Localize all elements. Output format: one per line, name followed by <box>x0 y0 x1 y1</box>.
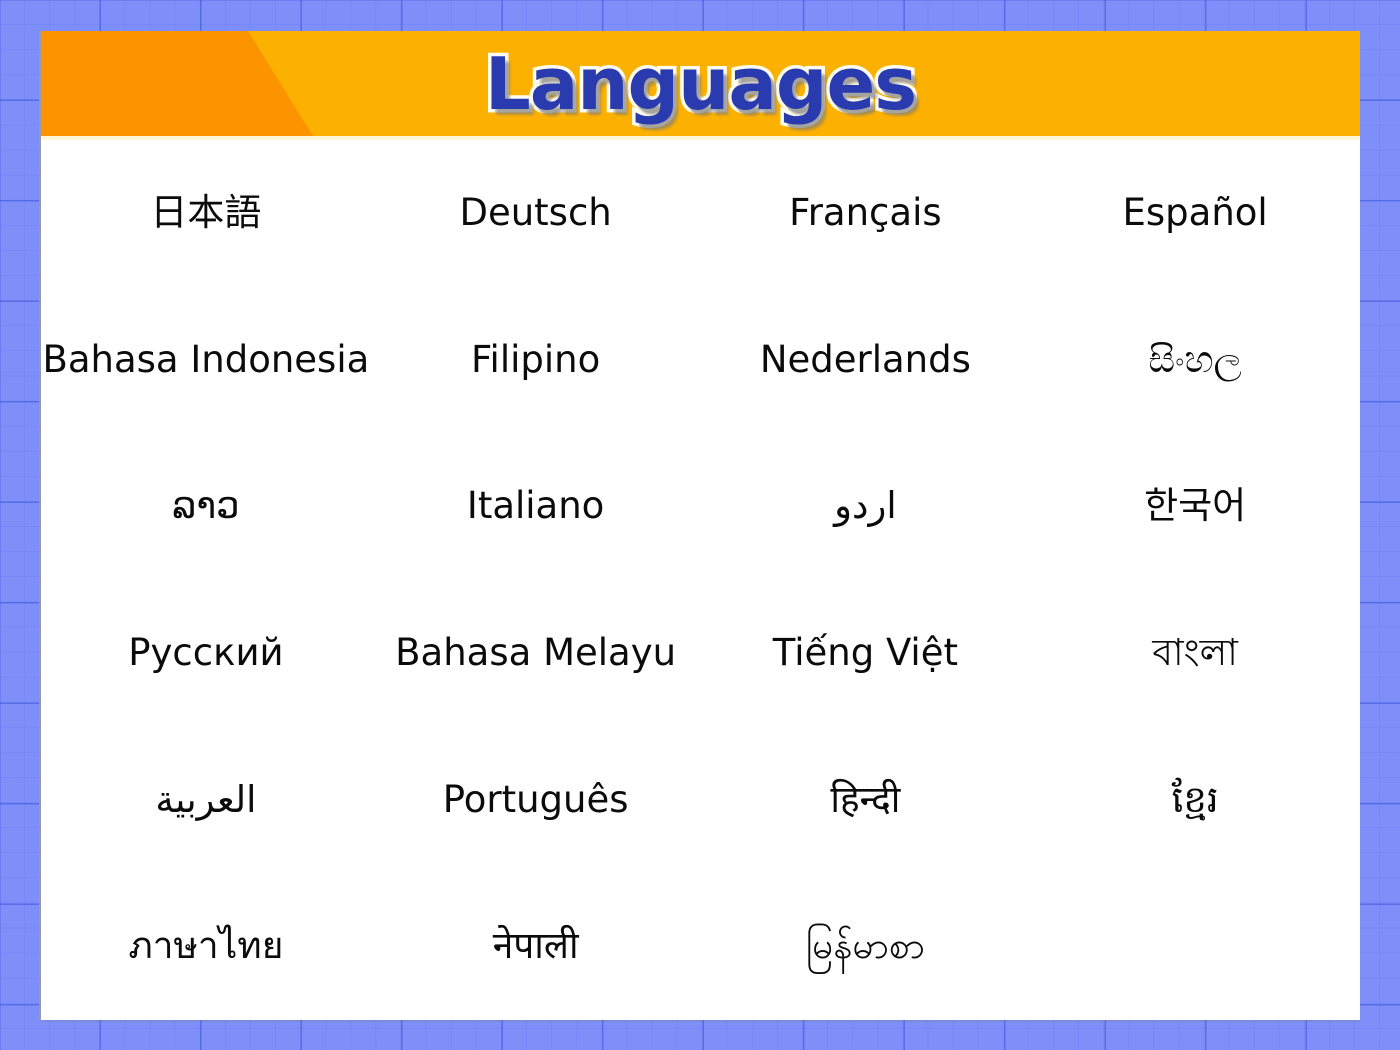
language-item-malay[interactable]: Bahasa Melayu <box>371 580 701 727</box>
language-item-burmese[interactable]: မြန်မာစာ <box>701 873 1031 1020</box>
language-item-japanese[interactable]: 日本語 <box>41 140 371 287</box>
language-item-sinhala[interactable]: සිංහල <box>1030 287 1360 434</box>
language-item-indonesian[interactable]: Bahasa Indonesia <box>41 287 371 434</box>
language-item-urdu[interactable]: اردو <box>701 433 1031 580</box>
language-item-spanish[interactable]: Español <box>1030 140 1360 287</box>
language-item-german[interactable]: Deutsch <box>371 140 701 287</box>
language-item-bengali[interactable]: বাংলা <box>1030 580 1360 727</box>
language-item-french[interactable]: Français <box>701 140 1031 287</box>
language-item-korean[interactable]: 한국어 <box>1030 433 1360 580</box>
language-item-arabic[interactable]: العربية <box>41 727 371 874</box>
language-item-lao[interactable]: ລາວ <box>41 433 371 580</box>
language-item-dutch[interactable]: Nederlands <box>701 287 1031 434</box>
language-item-filipino[interactable]: Filipino <box>371 287 701 434</box>
language-item-nepali[interactable]: नेपाली <box>371 873 701 1020</box>
language-item-hindi[interactable]: हिन्दी <box>701 727 1031 874</box>
language-item-khmer[interactable]: ខ្មែរ <box>1030 727 1360 874</box>
language-item-portuguese[interactable]: Português <box>371 727 701 874</box>
language-item-italian[interactable]: Italiano <box>371 433 701 580</box>
language-item-vietnamese[interactable]: Tiếng Việt <box>701 580 1031 727</box>
language-item-thai[interactable]: ภาษาไทย <box>41 873 371 1020</box>
language-item-russian[interactable]: Русский <box>41 580 371 727</box>
language-grid: 日本語 Deutsch Français Español Bahasa Indo… <box>41 140 1360 1020</box>
page-title: Languages <box>41 31 1360 136</box>
slide-card: Languages 日本語 Deutsch Français Español B… <box>41 31 1360 1020</box>
